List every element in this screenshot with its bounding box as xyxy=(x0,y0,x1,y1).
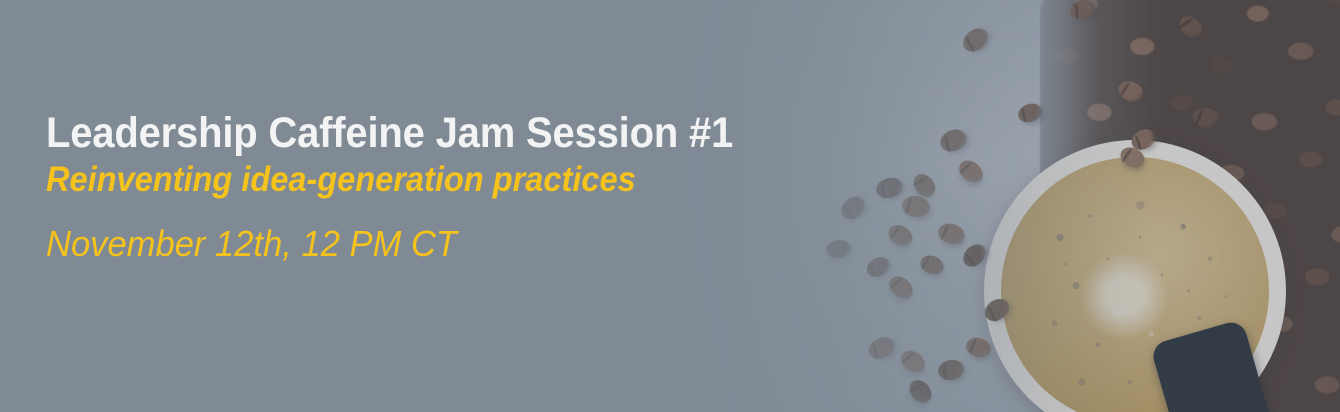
banner-copy: Leadership Caffeine Jam Session #1 Reinv… xyxy=(46,112,906,262)
banner-subtitle: Reinventing idea-generation practices xyxy=(46,162,846,199)
event-promo-banner: Leadership Caffeine Jam Session #1 Reinv… xyxy=(0,0,1340,412)
event-datetime: November 12th, 12 PM CT xyxy=(46,225,872,263)
page-title: Leadership Caffeine Jam Session #1 xyxy=(46,112,846,156)
